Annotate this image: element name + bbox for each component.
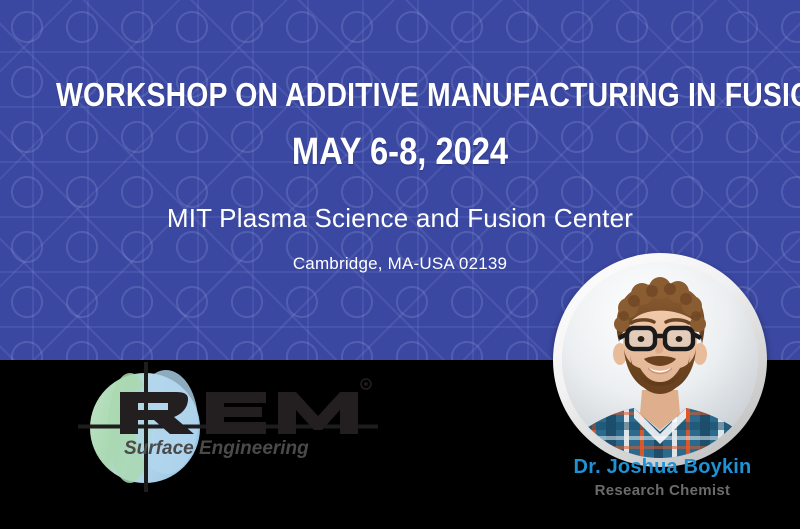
avatar-photo-clip bbox=[562, 262, 758, 458]
presenter-name: Dr. Joshua Boykin bbox=[525, 456, 800, 479]
presenter-role: Research Chemist bbox=[525, 482, 800, 499]
logo-crosshair-vertical bbox=[144, 362, 148, 492]
logo-tagline: Surface Engineering bbox=[124, 438, 309, 459]
event-venue: MIT Plasma Science and Fusion Center bbox=[0, 203, 800, 234]
avatar bbox=[553, 253, 767, 467]
logo-registered-mark bbox=[361, 379, 371, 389]
portrait-photo bbox=[562, 262, 758, 458]
page-title: WORKSHOP ON ADDITIVE MANUFACTURING IN FU… bbox=[56, 76, 744, 114]
conference-slide: WORKSHOP ON ADDITIVE MANUFACTURING IN FU… bbox=[0, 0, 800, 529]
event-dates: MAY 6-8, 2024 bbox=[56, 131, 744, 174]
rem-logo: Surface Engineering bbox=[78, 362, 378, 492]
